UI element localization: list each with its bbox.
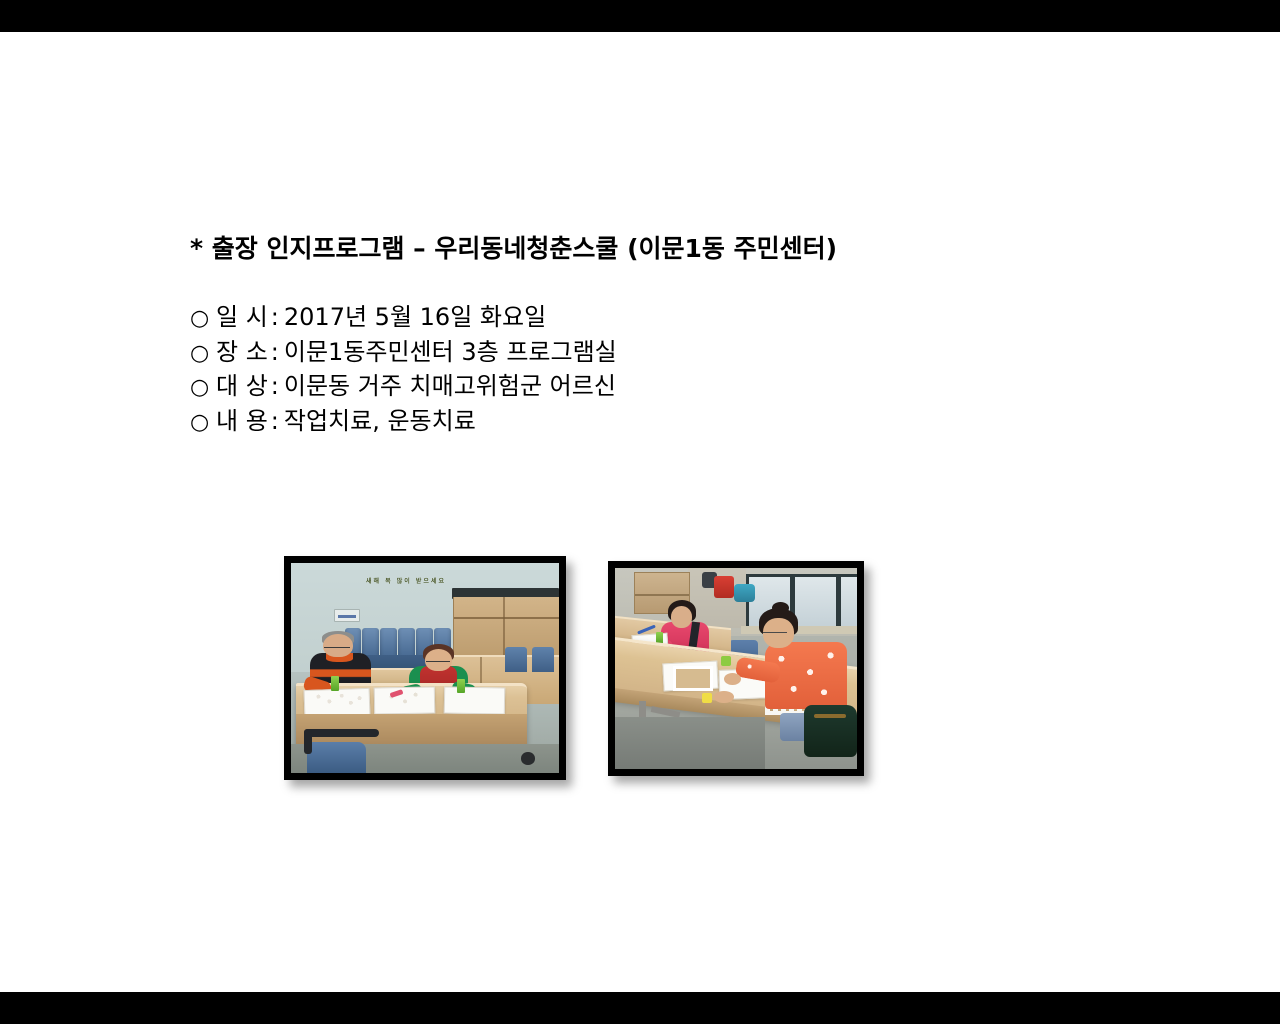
green-handbag [804,705,857,757]
list-item-value: 작업치료, 운동치료 [284,404,476,439]
list-item-separator: : [268,404,284,439]
bullet-circle-icon: ○ [190,302,216,337]
list-item-separator: : [268,335,284,370]
window-b [792,574,839,632]
woman-back-head [671,606,693,628]
woman-front-glasses [763,632,787,637]
slide-text-block: * 출장 인지프로그램 – 우리동네청춘스쿨 (이문1동 주민센터) ○ 일 시… [190,234,1070,438]
yellow-cap-front [702,693,712,703]
side-chair-a [505,647,526,672]
bullet-circle-icon: ○ [190,337,216,372]
caster-wheel [521,752,534,765]
list-item-value: 이문1동주민센터 3층 프로그램실 [284,335,617,370]
red-bag [714,576,733,598]
page-title: * 출장 인지프로그램 – 우리동네청춘스쿨 (이문1동 주민센터) [190,234,1070,264]
floor [615,717,765,769]
letterbox-bottom [0,992,1280,1024]
worksheet-c [444,686,505,714]
list-item-datetime: ○ 일 시 : 2017년 5월 16일 화요일 [190,300,1070,335]
green-cap-front [721,656,731,666]
list-item-label: 장 소 [216,335,268,370]
list-item-content: ○ 내 용 : 작업치료, 운동치료 [190,404,1070,439]
foreground-chair-support [304,729,312,754]
woman-front-hand-a [724,673,741,685]
paper-frame-cutout [673,666,713,690]
list-item-value: 이문동 거주 치매고위험군 어르신 [284,369,616,404]
photo-classroom-two-seniors: 새해 복 많이 받으세요 [284,556,566,780]
photo-image-right [615,568,857,769]
paper-scraps-a [312,691,366,710]
list-item-label: 내 용 [216,404,268,439]
photo-image-left: 새해 복 많이 받으세요 [291,563,559,773]
bullet-circle-icon: ○ [190,406,216,441]
slide-stage: * 출장 인지프로그램 – 우리동네청춘스쿨 (이문1동 주민센터) ○ 일 시… [0,0,1280,1024]
glue-stick-b [457,679,465,694]
wall-thermostat [334,609,360,622]
list-item-audience: ○ 대 상 : 이문동 거주 치매고위험군 어르신 [190,369,1070,404]
foreground-chair [307,742,366,774]
wall-banner-text: 새해 복 많이 받으세요 [366,576,446,585]
side-chair-b [532,647,553,672]
list-item-location: ○ 장 소 : 이문1동주민센터 3층 프로그램실 [190,335,1070,370]
senior-man-head [323,634,352,657]
detail-list: ○ 일 시 : 2017년 5월 16일 화요일 ○ 장 소 : 이문1동주민센… [190,300,1070,438]
list-item-label: 일 시 [216,300,268,335]
glue-stick-a [331,676,339,691]
senior-man-glasses [324,647,349,652]
foreground-chair-armrest [304,729,379,737]
list-item-label: 대 상 [216,369,268,404]
letterbox-top [0,0,1280,32]
paper-scraps-b [382,689,430,708]
woman-front-hand-b [714,691,733,703]
list-item-separator: : [268,300,284,335]
senior-woman-glasses [426,661,450,666]
list-item-separator: : [268,369,284,404]
bullet-circle-icon: ○ [190,371,216,406]
photo-long-table-two-women [608,561,864,776]
teal-bag [734,584,756,602]
slide-canvas: * 출장 인지프로그램 – 우리동네청춘스쿨 (이문1동 주민센터) ○ 일 시… [0,32,1280,992]
list-item-value: 2017년 5월 16일 화요일 [284,300,546,335]
window-c [838,574,857,632]
